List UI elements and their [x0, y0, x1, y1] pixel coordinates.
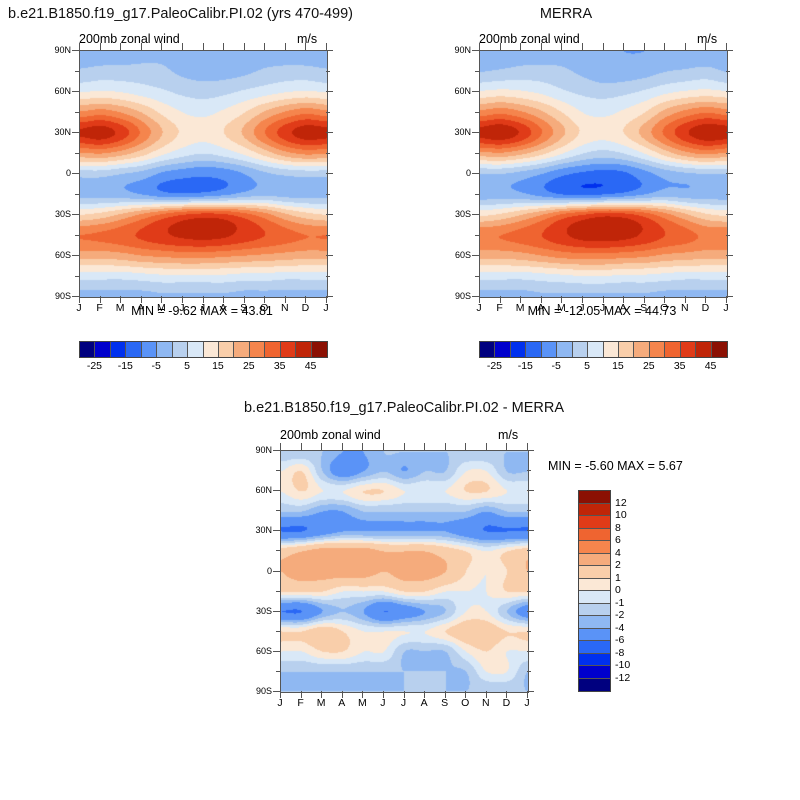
x-axis-tick: [520, 43, 521, 50]
x-axis-tick: [685, 43, 686, 50]
x-axis-tick: [223, 43, 224, 50]
x-axis-tick: [705, 43, 706, 50]
y-axis-tick-minor: [75, 276, 79, 277]
y-axis-tick: [326, 214, 333, 215]
x-axis-label: J: [524, 697, 529, 709]
y-axis-tick: [472, 255, 479, 256]
colorbar-segment: [480, 342, 495, 357]
colorbar-segment: [495, 342, 510, 357]
x-axis-label: F: [496, 302, 502, 314]
y-axis-tick: [527, 691, 534, 692]
y-axis-label: 90N: [242, 445, 272, 455]
x-axis-tick: [321, 443, 322, 450]
y-axis-tick-minor: [475, 235, 479, 236]
y-axis-label: 30N: [41, 127, 71, 137]
x-axis-tick: [301, 443, 302, 450]
y-axis-tick-minor: [726, 71, 730, 72]
x-axis-tick: [705, 296, 706, 303]
y-axis-tick: [326, 50, 333, 51]
x-axis-tick: [582, 43, 583, 50]
colorbar-segment: [579, 616, 610, 629]
colorbar-tick-label: 0: [615, 584, 621, 596]
colorbar-segment: [579, 566, 610, 579]
colorbar-segment: [95, 342, 110, 357]
colorbar-tick-label: -25: [487, 360, 502, 372]
x-axis-tick: [244, 43, 245, 50]
y-axis-tick: [273, 651, 280, 652]
y-axis-tick: [273, 490, 280, 491]
panel-obs-subtitle-right: m/s: [697, 32, 717, 46]
y-axis-tick: [527, 530, 534, 531]
x-axis-tick: [541, 296, 542, 303]
colorbar-segment: [696, 342, 711, 357]
y-axis-label: 30N: [242, 525, 272, 535]
y-axis-tick: [472, 132, 479, 133]
y-axis-tick-minor: [527, 470, 531, 471]
y-axis-tick-minor: [726, 194, 730, 195]
colorbar-tick-label: 15: [612, 360, 624, 372]
x-axis-label: J: [277, 697, 282, 709]
x-axis-tick: [603, 43, 604, 50]
panel-diff-subtitle-left: 200mb zonal wind: [280, 428, 381, 442]
y-axis-tick-minor: [527, 671, 531, 672]
x-axis-tick: [120, 43, 121, 50]
y-axis-tick: [726, 255, 733, 256]
colorbar-tick-label: -8: [615, 647, 624, 659]
y-axis-tick: [726, 132, 733, 133]
colorbar-segment: [173, 342, 188, 357]
y-axis-tick-minor: [326, 112, 330, 113]
panel-obs-title: MERRA: [540, 6, 592, 22]
x-axis-tick: [623, 296, 624, 303]
y-axis-label: 60S: [41, 250, 71, 260]
y-axis-tick-minor: [527, 510, 531, 511]
x-axis-tick: [644, 43, 645, 50]
x-axis-tick: [264, 296, 265, 303]
x-axis-tick: [100, 43, 101, 50]
x-axis-tick: [342, 691, 343, 698]
y-axis-label: 90N: [441, 45, 471, 55]
x-axis-tick: [79, 43, 80, 50]
y-axis-tick: [726, 91, 733, 92]
y-axis-tick: [472, 91, 479, 92]
x-axis-tick: [305, 43, 306, 50]
colorbar-tick-label: 45: [705, 360, 717, 372]
colorbar-segment: [296, 342, 311, 357]
colorbar-tick-label: 25: [243, 360, 255, 372]
y-axis-label: 60N: [41, 86, 71, 96]
x-axis-tick: [623, 43, 624, 50]
x-axis-tick: [383, 691, 384, 698]
x-axis-tick: [244, 296, 245, 303]
x-axis-label: N: [482, 697, 490, 709]
x-axis-label: D: [302, 302, 310, 314]
x-axis-tick: [161, 296, 162, 303]
x-axis-tick: [285, 296, 286, 303]
x-axis-tick: [424, 691, 425, 698]
y-axis-tick-minor: [475, 194, 479, 195]
panel-obs-minmax: MIN = -12.05 MAX = 44.73: [528, 304, 677, 318]
y-axis-tick-minor: [326, 235, 330, 236]
y-axis-label: 90S: [41, 291, 71, 301]
y-axis-tick-minor: [326, 194, 330, 195]
panel-model-subtitle-right: m/s: [297, 32, 317, 46]
x-axis-label: J: [323, 302, 328, 314]
x-axis-tick: [161, 43, 162, 50]
y-axis-tick: [72, 50, 79, 51]
x-axis-tick: [264, 43, 265, 50]
y-axis-tick-minor: [726, 276, 730, 277]
y-axis-tick-minor: [75, 153, 79, 154]
colorbar-segment: [126, 342, 141, 357]
y-axis-tick-minor: [276, 470, 280, 471]
y-axis-tick-minor: [726, 153, 730, 154]
x-axis-label: D: [503, 697, 511, 709]
colorbar-segment: [665, 342, 680, 357]
x-axis-label: N: [281, 302, 289, 314]
y-axis-label: 60N: [242, 485, 272, 495]
colorbar-segment: [604, 342, 619, 357]
y-axis-tick: [72, 296, 79, 297]
y-axis-tick-minor: [75, 194, 79, 195]
colorbar-tick-label: 6: [615, 534, 621, 546]
y-axis-label: 90N: [41, 45, 71, 55]
y-axis-tick-minor: [527, 550, 531, 551]
x-axis-tick: [383, 443, 384, 450]
x-axis-tick: [182, 296, 183, 303]
y-axis-tick: [72, 132, 79, 133]
y-axis-tick: [726, 296, 733, 297]
x-axis-tick: [541, 43, 542, 50]
x-axis-label: J: [723, 302, 728, 314]
colorbar-segment: [111, 342, 126, 357]
y-axis-tick-minor: [527, 591, 531, 592]
colorbar-segment: [579, 679, 610, 692]
panel-model-title: b.e21.B1850.f19_g17.PaleoCalibr.PI.02 (y…: [8, 6, 353, 22]
x-axis-label: A: [338, 697, 345, 709]
colorbar-tick-label: 35: [674, 360, 686, 372]
x-axis-label: O: [461, 697, 469, 709]
x-axis-tick: [326, 296, 327, 303]
y-axis-tick: [472, 296, 479, 297]
y-axis-label: 60N: [441, 86, 471, 96]
colorbar-tick-label: 12: [615, 497, 627, 509]
colorbar-tick-label: -10: [615, 659, 630, 671]
y-axis-tick: [273, 530, 280, 531]
x-axis-tick: [203, 43, 204, 50]
colorbar-tick-label: 5: [184, 360, 190, 372]
colorbar-segment: [681, 342, 696, 357]
x-axis-tick: [527, 443, 528, 450]
colorbar-segment: [188, 342, 203, 357]
x-axis-tick: [203, 296, 204, 303]
colorbar-tick-label: 2: [615, 559, 621, 571]
x-axis-tick: [445, 691, 446, 698]
y-axis-tick: [72, 91, 79, 92]
colorbar-segment: [80, 342, 95, 357]
x-axis-tick: [342, 443, 343, 450]
colorbar-tick-label: -5: [552, 360, 561, 372]
x-axis-tick: [362, 443, 363, 450]
x-axis-tick: [223, 296, 224, 303]
colorbar-tick-label: 25: [643, 360, 655, 372]
plot-area-diff[interactable]: [280, 450, 529, 693]
x-axis-label: J: [401, 697, 406, 709]
colorbar-segment: [579, 504, 610, 517]
y-axis-tick: [273, 691, 280, 692]
colorbar-segment: [579, 604, 610, 617]
y-axis-tick-minor: [475, 112, 479, 113]
y-axis-tick-minor: [326, 153, 330, 154]
x-axis-tick: [644, 296, 645, 303]
colorbar-tick-label: -5: [152, 360, 161, 372]
x-axis-tick: [465, 443, 466, 450]
x-axis-label: J: [380, 697, 385, 709]
x-axis-label: F: [297, 697, 303, 709]
x-axis-tick: [404, 691, 405, 698]
colorbar-segment: [219, 342, 234, 357]
colorbar-segment: [573, 342, 588, 357]
y-axis-tick: [72, 173, 79, 174]
colorbar-segment: [281, 342, 296, 357]
colorbar-tick-label: -25: [87, 360, 102, 372]
colorbar-diff[interactable]: [578, 490, 611, 692]
colorbar-tick-label: 45: [305, 360, 317, 372]
colorbar-segment: [526, 342, 541, 357]
plot-area-model[interactable]: [79, 50, 328, 298]
y-axis-tick: [527, 490, 534, 491]
colorbar-segment: [579, 641, 610, 654]
y-axis-tick: [273, 450, 280, 451]
y-axis-tick: [726, 214, 733, 215]
y-axis-label: 0: [242, 566, 272, 576]
x-axis-tick: [486, 691, 487, 698]
x-axis-tick: [500, 296, 501, 303]
colorbar-model[interactable]: [79, 341, 328, 358]
panel-model-minmax: MIN = -9.62 MAX = 43.81: [131, 304, 273, 318]
x-axis-label: S: [441, 697, 448, 709]
y-axis-tick-minor: [726, 235, 730, 236]
y-axis-label: 30S: [41, 209, 71, 219]
y-axis-tick: [72, 255, 79, 256]
y-axis-tick: [472, 214, 479, 215]
x-axis-tick: [603, 296, 604, 303]
x-axis-tick: [479, 43, 480, 50]
x-axis-tick: [141, 296, 142, 303]
x-axis-tick: [404, 443, 405, 450]
y-axis-tick: [527, 450, 534, 451]
x-axis-tick: [520, 296, 521, 303]
colorbar-tick-label: -15: [118, 360, 133, 372]
x-axis-tick: [182, 43, 183, 50]
y-axis-tick-minor: [276, 591, 280, 592]
y-axis-label: 0: [441, 168, 471, 178]
x-axis-tick: [100, 296, 101, 303]
x-axis-tick: [141, 43, 142, 50]
panel-model-subtitle-left: 200mb zonal wind: [79, 32, 180, 46]
colorbar-segment: [511, 342, 526, 357]
y-axis-label: 60S: [242, 646, 272, 656]
colorbar-segment: [650, 342, 665, 357]
colorbar-segment: [579, 654, 610, 667]
y-axis-label: 60S: [441, 250, 471, 260]
colorbar-tick-label: 4: [615, 547, 621, 559]
x-axis-tick: [506, 691, 507, 698]
colorbar-segment: [588, 342, 603, 357]
colorbar-segment: [634, 342, 649, 357]
colorbar-tick-label: 15: [212, 360, 224, 372]
y-axis-tick: [326, 255, 333, 256]
x-axis-tick: [326, 43, 327, 50]
colorbar-segment: [579, 541, 610, 554]
x-axis-label: M: [317, 697, 326, 709]
x-axis-tick: [445, 443, 446, 450]
x-axis-label: M: [116, 302, 125, 314]
colorbar-segment: [312, 342, 327, 357]
x-axis-tick: [486, 443, 487, 450]
colorbar-tick-label: 35: [274, 360, 286, 372]
x-axis-tick: [280, 443, 281, 450]
plot-area-obs[interactable]: [479, 50, 728, 298]
x-axis-label: D: [702, 302, 710, 314]
x-axis-label: A: [421, 697, 428, 709]
colorbar-segment: [234, 342, 249, 357]
y-axis-tick: [726, 173, 733, 174]
x-axis-label: J: [76, 302, 81, 314]
x-axis-tick: [321, 691, 322, 698]
colorbar-segment: [265, 342, 280, 357]
y-axis-tick-minor: [75, 235, 79, 236]
colorbar-tick-label: 8: [615, 522, 621, 534]
x-axis-tick: [527, 691, 528, 698]
colorbar-segment: [579, 554, 610, 567]
x-axis-label: N: [681, 302, 689, 314]
x-axis-tick: [664, 296, 665, 303]
y-axis-tick-minor: [475, 276, 479, 277]
y-axis-tick: [472, 173, 479, 174]
y-axis-tick: [72, 214, 79, 215]
y-axis-label: 90S: [441, 291, 471, 301]
x-axis-tick: [561, 43, 562, 50]
x-axis-tick: [465, 691, 466, 698]
y-axis-tick-minor: [276, 550, 280, 551]
colorbar-segment: [712, 342, 727, 357]
colorbar-segment: [579, 516, 610, 529]
x-axis-tick: [685, 296, 686, 303]
colorbar-segment: [542, 342, 557, 357]
x-axis-label: F: [96, 302, 102, 314]
colorbar-tick-label: -1: [615, 597, 624, 609]
y-axis-tick: [527, 571, 534, 572]
colorbar-tick-label: -12: [615, 672, 630, 684]
colorbar-segment: [579, 591, 610, 604]
x-axis-tick: [500, 43, 501, 50]
colorbar-segment: [204, 342, 219, 357]
x-axis-tick: [479, 296, 480, 303]
x-axis-label: J: [476, 302, 481, 314]
y-axis-tick: [326, 173, 333, 174]
colorbar-segment: [619, 342, 634, 357]
y-axis-tick: [326, 91, 333, 92]
x-axis-label: M: [358, 697, 367, 709]
y-axis-label: 0: [41, 168, 71, 178]
x-axis-tick: [280, 691, 281, 698]
x-axis-tick: [506, 443, 507, 450]
x-axis-tick: [79, 296, 80, 303]
y-axis-tick-minor: [726, 112, 730, 113]
y-axis-tick-minor: [276, 631, 280, 632]
y-axis-tick: [472, 50, 479, 51]
x-axis-tick: [120, 296, 121, 303]
panel-diff-subtitle-right: m/s: [498, 428, 518, 442]
colorbar-tick-label: 10: [615, 509, 627, 521]
y-axis-tick: [726, 50, 733, 51]
colorbar-segment: [579, 666, 610, 679]
y-axis-tick-minor: [75, 112, 79, 113]
y-axis-tick: [326, 296, 333, 297]
y-axis-tick-minor: [475, 71, 479, 72]
x-axis-tick: [664, 43, 665, 50]
y-axis-label: 30S: [441, 209, 471, 219]
colorbar-segment: [557, 342, 572, 357]
x-axis-tick: [561, 296, 562, 303]
panel-diff-minmax: MIN = -5.60 MAX = 5.67: [548, 459, 683, 473]
y-axis-tick: [527, 651, 534, 652]
x-axis-tick: [305, 296, 306, 303]
y-axis-tick: [273, 611, 280, 612]
colorbar-segment: [250, 342, 265, 357]
y-axis-tick: [326, 132, 333, 133]
colorbar-tick-label: 1: [615, 572, 621, 584]
y-axis-label: 30S: [242, 606, 272, 616]
y-axis-label: 90S: [242, 686, 272, 696]
x-axis-tick: [362, 691, 363, 698]
x-axis-tick: [726, 296, 727, 303]
x-axis-tick: [424, 443, 425, 450]
y-axis-tick-minor: [326, 71, 330, 72]
colorbar-tick-label: -15: [518, 360, 533, 372]
colorbar-segment: [579, 629, 610, 642]
y-axis-tick-minor: [276, 671, 280, 672]
y-axis-tick-minor: [475, 153, 479, 154]
y-axis-tick: [273, 571, 280, 572]
colorbar-tick-label: -6: [615, 634, 624, 646]
colorbar-segment: [579, 529, 610, 542]
y-axis-tick-minor: [75, 71, 79, 72]
colorbar-tick-label: -2: [615, 609, 624, 621]
x-axis-label: M: [516, 302, 525, 314]
y-axis-tick-minor: [527, 631, 531, 632]
colorbar-segment: [142, 342, 157, 357]
y-axis-label: 30N: [441, 127, 471, 137]
colorbar-segment: [579, 579, 610, 592]
panel-obs-subtitle-left: 200mb zonal wind: [479, 32, 580, 46]
x-axis-tick: [301, 691, 302, 698]
colorbar-tick-label: 5: [584, 360, 590, 372]
colorbar-tick-label: -4: [615, 622, 624, 634]
panel-diff-title: b.e21.B1850.f19_g17.PaleoCalibr.PI.02 - …: [244, 400, 564, 416]
y-axis-tick: [527, 611, 534, 612]
y-axis-tick-minor: [326, 276, 330, 277]
x-axis-tick: [285, 43, 286, 50]
colorbar-segment: [579, 491, 610, 504]
y-axis-tick-minor: [276, 510, 280, 511]
x-axis-tick: [726, 43, 727, 50]
colorbar-segment: [157, 342, 172, 357]
x-axis-tick: [582, 296, 583, 303]
colorbar-obs[interactable]: [479, 341, 728, 358]
